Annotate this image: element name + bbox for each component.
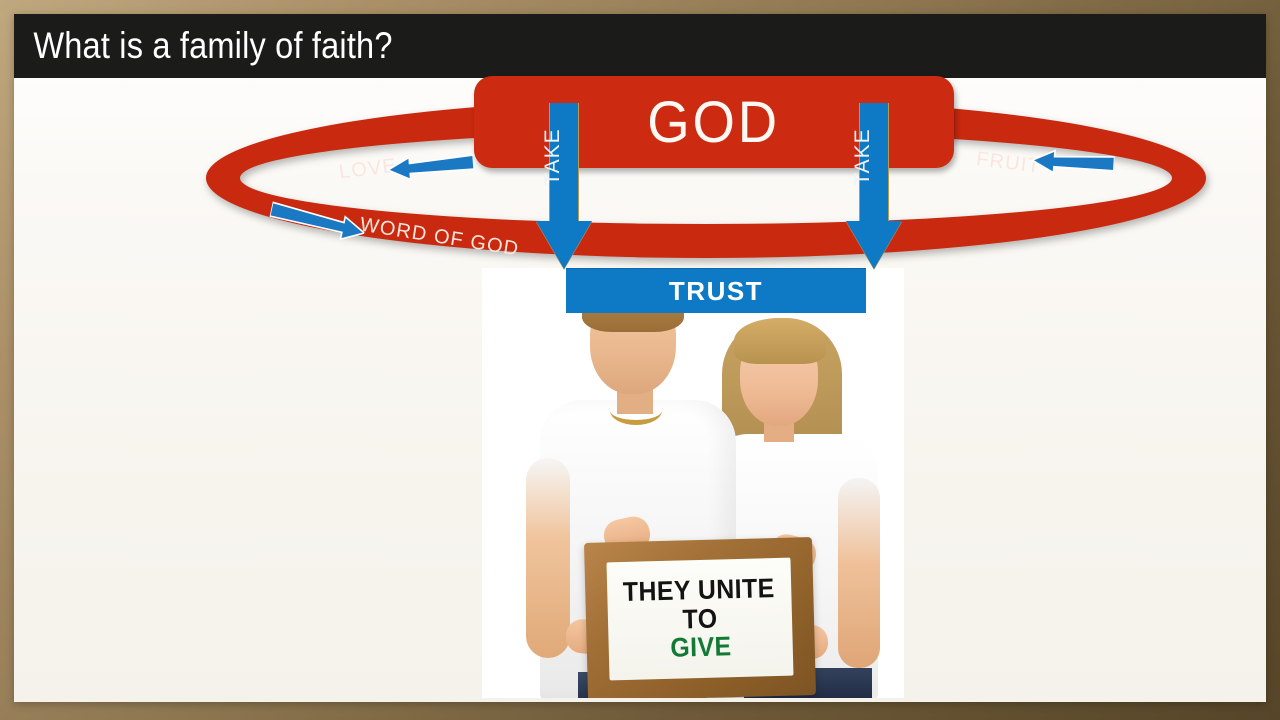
man-left-arm: [526, 458, 570, 658]
slide-root: What is a family of faith? GOD LOVE WORD…: [0, 0, 1280, 720]
trust-bar-label: TRUST: [669, 276, 763, 307]
sign-face: THEY UNITE TO GIVE: [606, 558, 793, 681]
take-arrow-left-label: TAKE: [541, 109, 565, 205]
page-title: What is a family of faith?: [14, 25, 393, 67]
man-necklace: [610, 396, 662, 425]
arrow-left-love-icon: [387, 151, 475, 188]
take-arrow-head-icon: [846, 221, 902, 269]
god-banner-label: GOD: [648, 89, 781, 156]
woman-hair-top: [734, 318, 826, 364]
slide-canvas: What is a family of faith? GOD LOVE WORD…: [14, 14, 1266, 702]
photo-content: THEY UNITE TO GIVE: [482, 268, 904, 698]
title-bar: What is a family of faith?: [14, 14, 1266, 78]
take-arrow-head-icon: [536, 221, 592, 269]
wooden-sign-frame: THEY UNITE TO GIVE: [584, 537, 816, 698]
sign-line-3: GIVE: [670, 632, 732, 662]
arrow-left-fruit-icon: [1031, 147, 1115, 184]
faith-cycle-diagram: GOD LOVE WORD OF GOD FRUIT: [14, 78, 1266, 702]
couple-photo: THEY UNITE TO GIVE: [482, 268, 904, 698]
sign-line-2: TO: [682, 604, 718, 633]
sign-line-1: THEY UNITE: [623, 575, 776, 607]
take-arrow-right-label: TAKE: [851, 109, 875, 205]
trust-bar[interactable]: TRUST: [566, 268, 866, 313]
woman-right-arm: [838, 478, 880, 668]
take-arrow-right[interactable]: TAKE: [846, 103, 902, 269]
take-arrow-left[interactable]: TAKE: [536, 103, 592, 269]
